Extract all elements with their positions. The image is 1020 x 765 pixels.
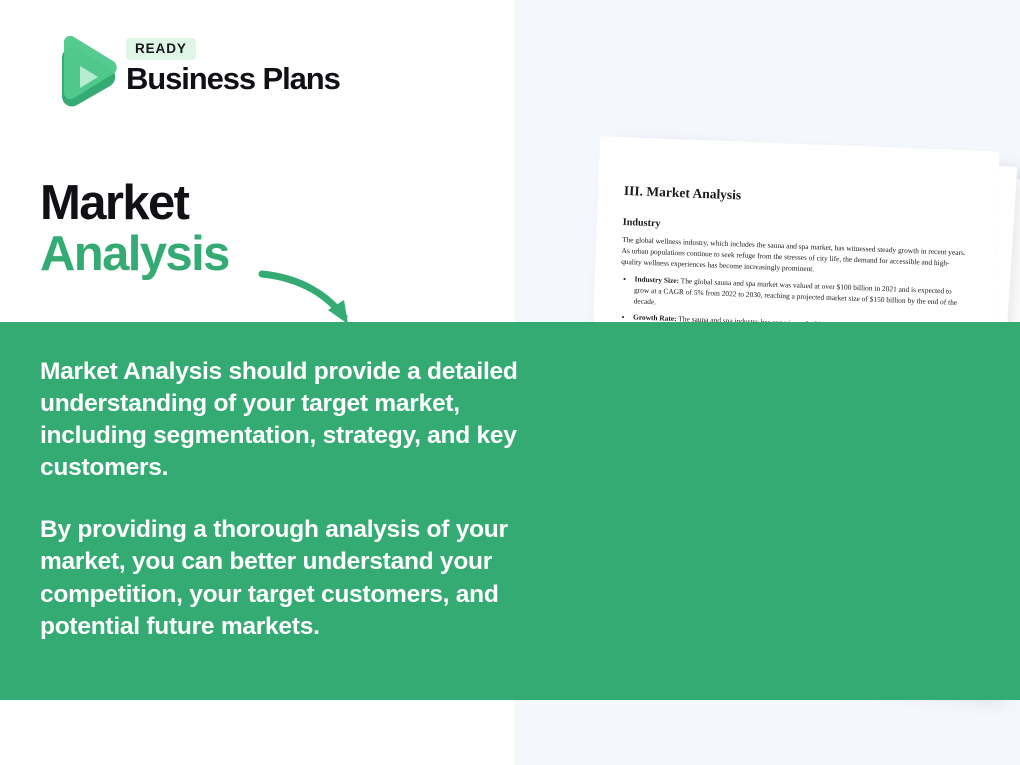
brand-wordmark: READY Business Plans <box>126 38 340 96</box>
brand-logo[interactable]: READY Business Plans <box>40 34 370 124</box>
curved-down-right-arrow-icon <box>258 268 378 338</box>
green-paragraph-1: Market Analysis should provide a detaile… <box>40 356 555 484</box>
page-title-line-2: Analysis <box>40 229 229 280</box>
ready-badge: READY <box>126 38 196 60</box>
slide-canvas: growth ient. 21 and size rate of s of un… <box>0 0 1020 765</box>
double-play-triangle-logo-icon <box>40 36 118 118</box>
page-title: Market Analysis <box>40 178 229 280</box>
green-paragraph-2: By providing a thorough analysis of your… <box>40 514 555 642</box>
page-title-line-1: Market <box>40 178 229 229</box>
green-panel-copy: Market Analysis should provide a detaile… <box>40 356 555 643</box>
brand-name: Business Plans <box>126 62 340 96</box>
green-message-panel: Market Analysis should provide a detaile… <box>0 322 1020 700</box>
